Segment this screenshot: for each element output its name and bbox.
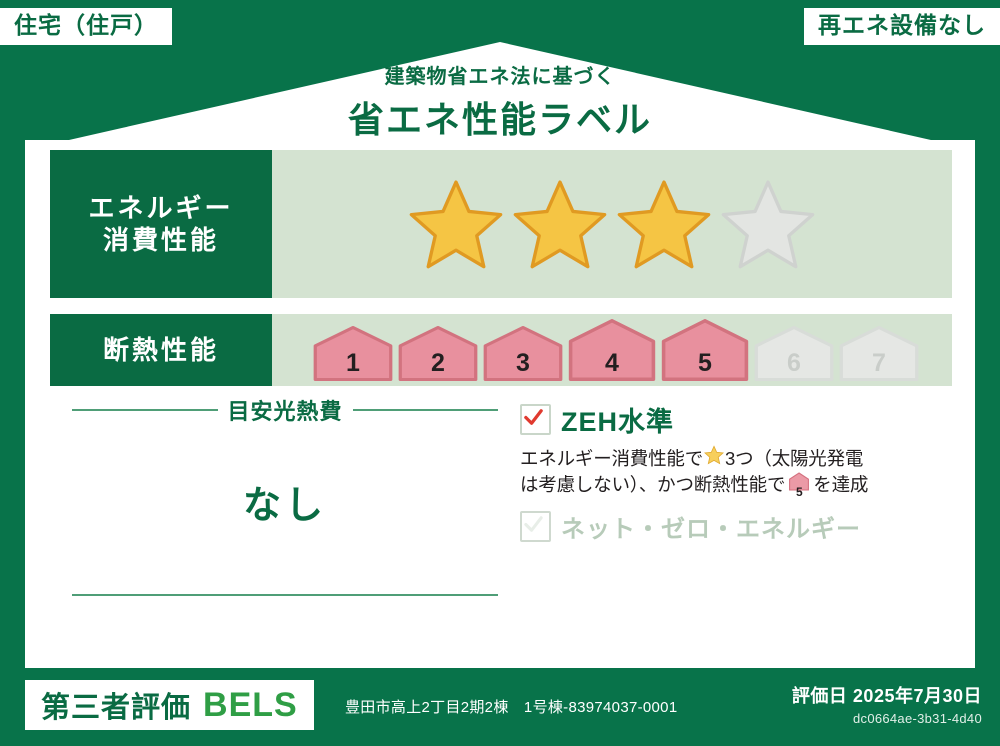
energy-performance-label: エネルギー 消費性能 — [50, 150, 272, 298]
insulation-label-text: 断熱性能 — [103, 334, 219, 367]
utility-cost-heading-text: 目安光熱費 — [228, 394, 343, 426]
footer-bar: 第三者評価 BELS 豊田市高上2丁目2期2棟 1号棟-83974037-000… — [0, 668, 1000, 746]
utility-cost-column: 目安光熱費 なし — [50, 394, 520, 694]
checkbox-unchecked-icon[interactable] — [520, 511, 551, 542]
star-filled-icon — [407, 177, 505, 271]
evaluation-date-value: 2025年7月30日 — [853, 686, 982, 706]
tag-renewable-equipment: 再エネ設備なし — [804, 8, 1000, 45]
energy-label-root: 住宅（住戸） 再エネ設備なし 建築物省エネ法に基づく 省エネ性能ラベル エネルギ… — [0, 0, 1000, 746]
star-filled-icon — [615, 177, 713, 271]
evaluation-code: dc0664ae-3b31-4d40 — [792, 711, 982, 726]
zeh-desc-line1-b: 3つ（太陽光発電 — [725, 446, 863, 472]
insulation-level-number: 6 — [753, 351, 835, 376]
insulation-level-number: 2 — [397, 351, 479, 376]
insulation-level-number: 4 — [567, 351, 657, 376]
energy-label-line1: エネルギー — [88, 192, 233, 225]
mini-star-icon — [704, 445, 724, 472]
roof-shape — [25, 42, 975, 150]
building-address: 豊田市高上2丁目2期2棟 1号棟-83974037-0001 — [345, 696, 677, 717]
insulation-level-house: 6 — [753, 326, 835, 381]
lower-section: 目安光熱費 なし ZEH水準 エネルギー消費性 — [50, 394, 952, 694]
utility-cost-bottom-rule — [72, 594, 498, 596]
mini-house-badge-icon: 5 — [788, 472, 810, 498]
insulation-level-number: 3 — [482, 351, 564, 376]
third-party-eval-label: 第三者評価 — [41, 684, 191, 726]
insulation-performance-label: 断熱性能 — [50, 314, 272, 386]
insulation-level-house: 5 — [660, 319, 750, 381]
insulation-level-house: 2 — [397, 326, 479, 381]
zeh-description-line2: は考慮しない）、かつ断熱性能で 5 を達成 — [520, 472, 952, 498]
bels-brand-block: 第三者評価 BELS — [25, 680, 314, 730]
star-filled-icon — [511, 177, 609, 271]
mini-house-badge-number: 5 — [788, 486, 810, 498]
star-rating — [407, 177, 817, 271]
zeh-standard-row[interactable]: ZEH水準 — [520, 400, 952, 439]
energy-performance-row: エネルギー 消費性能 — [50, 150, 952, 298]
zeh-description: エネルギー消費性能で 3つ（太陽光発電 は考慮しない）、かつ断熱性能で — [520, 445, 952, 499]
checkbox-checked-icon[interactable] — [520, 404, 551, 435]
net-zero-energy-row[interactable]: ネット・ゼロ・エネルギー — [520, 509, 952, 544]
bels-logo: BELS — [203, 686, 298, 725]
utility-cost-heading: 目安光熱費 — [50, 394, 520, 426]
zeh-column: ZEH水準 エネルギー消費性能で 3つ（太陽光発電 は考慮しない）、かつ断熱性 — [520, 394, 952, 694]
insulation-level-number: 5 — [660, 351, 750, 376]
insulation-level-number: 1 — [312, 351, 394, 376]
zeh-desc-line2-a: は考慮しない）、かつ断熱性能で — [520, 472, 785, 498]
insulation-level-house: 3 — [482, 326, 564, 381]
insulation-level-number: 7 — [838, 351, 920, 376]
energy-performance-value — [272, 150, 952, 298]
zeh-standard-label: ZEH水準 — [561, 400, 674, 439]
footer-eval-info: 評価日 2025年7月30日 dc0664ae-3b31-4d40 — [792, 682, 982, 726]
insulation-level-scale: 1234567 — [304, 319, 920, 381]
energy-label-line2: 消費性能 — [103, 224, 219, 257]
evaluation-date-label: 評価日 — [792, 686, 848, 706]
star-empty-icon — [719, 177, 817, 271]
rule-left — [72, 409, 218, 411]
tag-building-type: 住宅（住戸） — [0, 8, 172, 45]
zeh-desc-line2-b: を達成 — [813, 472, 868, 498]
house-graphic: 建築物省エネ法に基づく 省エネ性能ラベル エネルギー 消費性能 断熱性能 123… — [25, 42, 975, 746]
net-zero-energy-label: ネット・ゼロ・エネルギー — [561, 509, 861, 544]
zeh-description-line1: エネルギー消費性能で 3つ（太陽光発電 — [520, 445, 952, 472]
insulation-level-house: 4 — [567, 319, 657, 381]
zeh-desc-line1-a: エネルギー消費性能で — [520, 446, 703, 472]
rule-right — [353, 409, 499, 411]
evaluation-date: 評価日 2025年7月30日 — [792, 682, 982, 708]
insulation-performance-row: 断熱性能 1234567 — [50, 314, 952, 386]
insulation-level-house: 1 — [312, 326, 394, 381]
insulation-performance-value: 1234567 — [272, 314, 952, 386]
utility-cost-value: なし — [50, 474, 520, 529]
insulation-level-house: 7 — [838, 326, 920, 381]
